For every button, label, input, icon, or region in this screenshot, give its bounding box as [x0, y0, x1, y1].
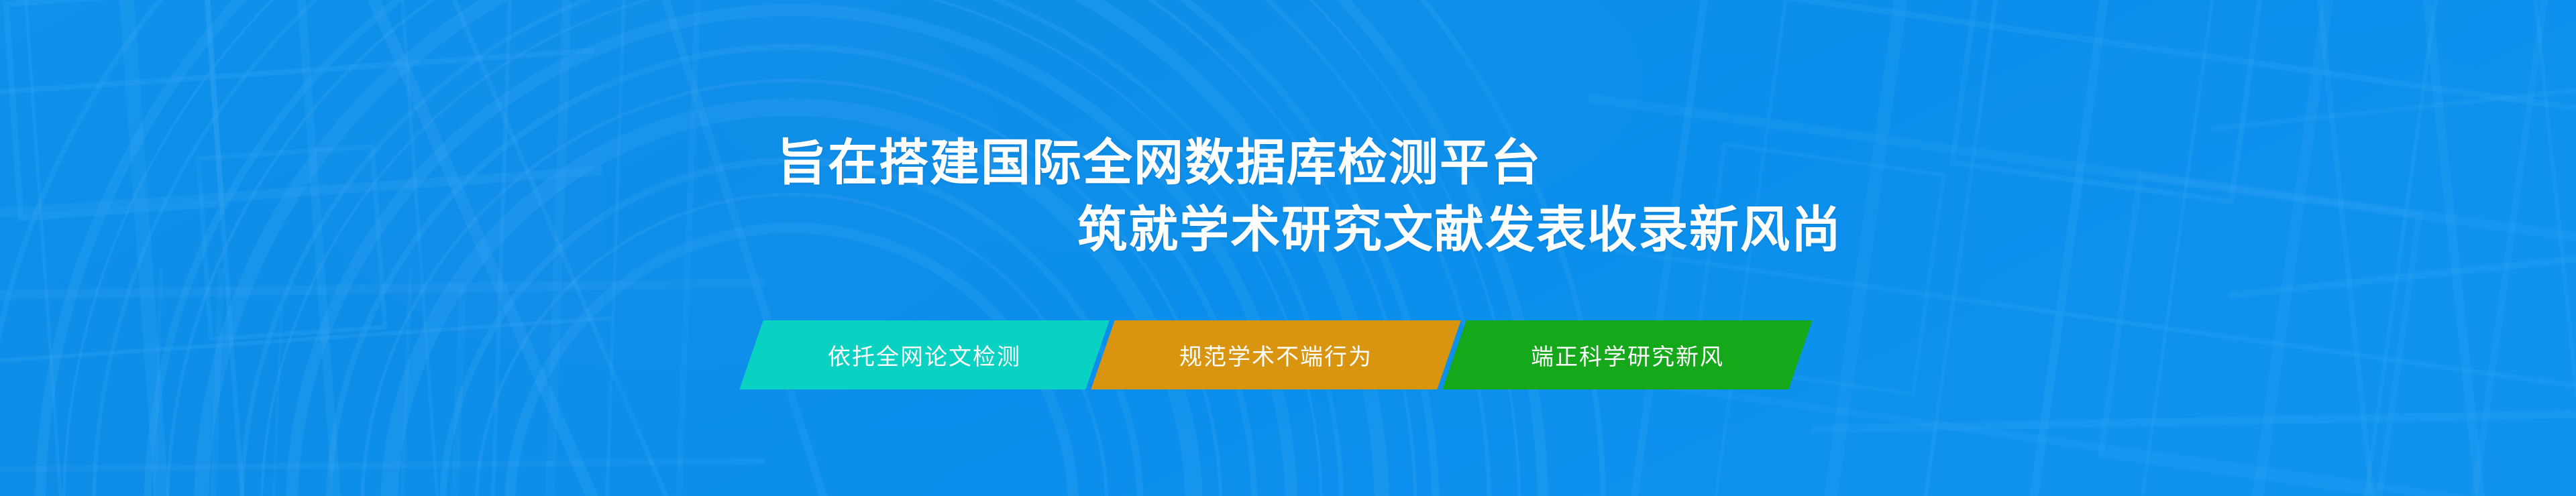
feature-tag-academic-misconduct[interactable]: 规范学术不端行为 — [1103, 320, 1449, 389]
feature-tag-strip: 依托全网论文检测 规范学术不端行为 端正科学研究新风 — [751, 320, 1838, 389]
headline-line-1: 旨在搭建国际全网数据库检测平台 — [777, 134, 1542, 192]
feature-tag-label: 规范学术不端行为 — [1174, 338, 1378, 371]
feature-tag-label: 端正科学研究新风 — [1525, 338, 1729, 371]
hero-banner: 旨在搭建国际全网数据库检测平台 筑就学术研究文献发表收录新风尚 依托全网论文检测… — [0, 0, 2576, 496]
headline-line-2: 筑就学术研究文献发表收录新风尚 — [1077, 201, 1842, 259]
feature-tag-full-network-detection[interactable]: 依托全网论文检测 — [751, 320, 1097, 389]
banner-content: 旨在搭建国际全网数据库检测平台 筑就学术研究文献发表收录新风尚 依托全网论文检测… — [0, 0, 2576, 496]
feature-tag-label: 依托全网论文检测 — [822, 338, 1026, 371]
feature-tag-research-integrity[interactable]: 端正科学研究新风 — [1454, 320, 1801, 389]
